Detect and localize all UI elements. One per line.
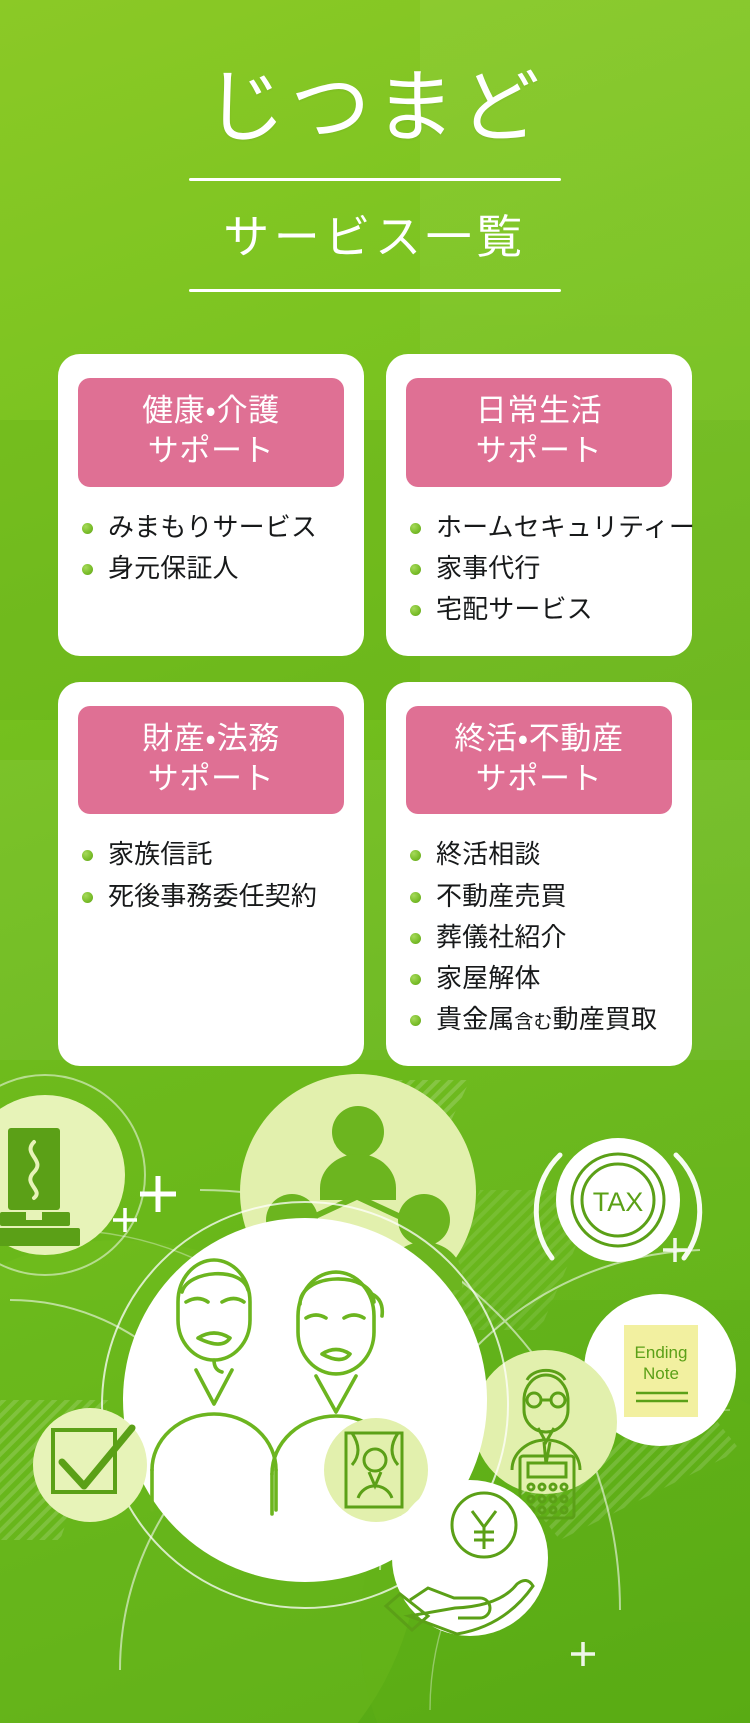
page-subtitle: サービス一覧 [0, 201, 750, 267]
ending-note-line2: Note [643, 1364, 679, 1383]
list-item: 死後事務委任契約 [78, 876, 344, 917]
list-item-label: 不動産売買 [436, 881, 567, 911]
list-item: 家族信託 [78, 834, 344, 875]
bullet-dot-icon [410, 974, 421, 985]
list-item-label: みまもりサービス [108, 512, 317, 542]
service-item-list: 終活相談 不動産売買 葬儀社紹介 家屋解体 貴金属含む動産買取 [406, 834, 672, 1039]
service-card-daily-life[interactable]: 日常生活 サポート ホームセキュリティー 家事代行 宅配サービス [386, 354, 692, 656]
list-item: 貴金属含む動産買取 [406, 999, 672, 1040]
list-item: 家事代行 [406, 548, 672, 589]
list-item: みまもりサービス [78, 507, 344, 548]
ending-note-line1: Ending [635, 1343, 688, 1362]
list-item: 身元保証人 [78, 548, 344, 589]
card-title: 健康・介護 サポート [78, 378, 344, 487]
bullet-dot-icon [82, 850, 93, 861]
list-item-label: 葬儀社紹介 [436, 922, 567, 952]
title-divider-bottom [189, 289, 561, 292]
list-item-label: 死後事務委任契約 [108, 881, 317, 911]
list-item-label: 宅配サービス [436, 594, 593, 624]
service-card-grid: 健康・介護 サポート みまもりサービス 身元保証人 日常生活 サポート ホームセ… [58, 354, 692, 1066]
bullet-dot-icon [410, 933, 421, 944]
list-item: 終活相談 [406, 834, 672, 875]
bullet-dot-icon [410, 564, 421, 575]
bullet-dot-icon [410, 1015, 421, 1026]
list-item: 宅配サービス [406, 589, 672, 630]
service-card-health[interactable]: 健康・介護 サポート みまもりサービス 身元保証人 [58, 354, 364, 656]
bullet-dot-icon [410, 850, 421, 861]
card-title: 日常生活 サポート [406, 378, 672, 487]
list-item-label-small: 含む [514, 1012, 552, 1033]
pale-circle [33, 1408, 147, 1522]
tax-label: TAX [593, 1187, 644, 1217]
bullet-dot-icon [82, 523, 93, 534]
service-list-poster: じつまど サービス一覧 健康・介護 サポート みまもりサービス 身元保証人 日常… [0, 0, 750, 1723]
list-item-label: 家事代行 [436, 553, 541, 583]
list-item-label: 終活相談 [436, 839, 541, 869]
card-title: 終活・不動産 サポート [406, 706, 672, 815]
service-item-list: 家族信託 死後事務委任契約 [78, 834, 344, 916]
list-item: 家屋解体 [406, 958, 672, 999]
list-item-label: 家族信託 [108, 839, 213, 869]
service-item-list: ホームセキュリティー 家事代行 宅配サービス [406, 507, 672, 630]
brand-title: じつまど [0, 66, 750, 150]
list-item-label: 貴金属 [436, 1004, 514, 1034]
service-card-end-of-life-realestate[interactable]: 終活・不動産 サポート 終活相談 不動産売買 葬儀社紹介 家屋解体 [386, 682, 692, 1066]
bullet-dot-icon [410, 605, 421, 616]
bullet-dot-icon [82, 892, 93, 903]
bullet-dot-icon [82, 564, 93, 575]
list-item: ホームセキュリティー [406, 507, 672, 548]
illustration-area: TAX Ending Note [0, 1070, 750, 1723]
bullet-dot-icon [410, 892, 421, 903]
list-item-label: ホームセキュリティー [436, 512, 695, 542]
list-item-label: 身元保証人 [108, 553, 239, 583]
service-item-list: みまもりサービス 身元保証人 [78, 507, 344, 589]
poster-header: じつまど サービス一覧 [0, 0, 750, 292]
card-title: 財産・法務 サポート [78, 706, 344, 815]
list-item: 不動産売買 [406, 876, 672, 917]
list-item-label-tail: 動産買取 [553, 1004, 658, 1034]
service-card-assets-legal[interactable]: 財産・法務 サポート 家族信託 死後事務委任契約 [58, 682, 364, 1066]
illustration-svg: TAX Ending Note [0, 1070, 750, 1723]
title-divider-top [189, 178, 561, 181]
list-item-label: 家屋解体 [436, 963, 541, 993]
bullet-dot-icon [410, 523, 421, 534]
white-circle [392, 1480, 548, 1636]
list-item: 葬儀社紹介 [406, 917, 672, 958]
